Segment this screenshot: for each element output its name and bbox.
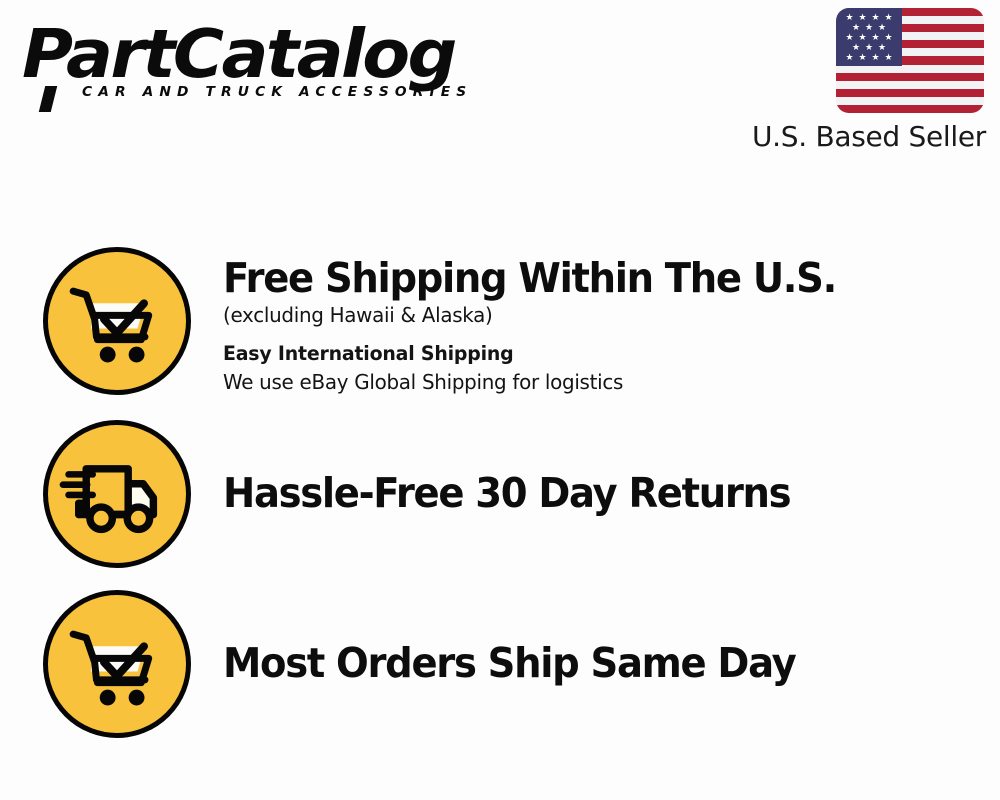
flag-star-row: ★★★★ [836, 13, 902, 22]
feature-title: Hassle-Free 30 Day Returns [223, 470, 937, 516]
shopping-cart-check-icon [43, 247, 191, 395]
feature-sub-heading: Easy International Shipping [223, 340, 960, 368]
brand-tagline: CAR AND TRUCK ACCESSORIES [82, 84, 472, 100]
page-header: PartCatalog CAR AND TRUCK ACCESSORIES [0, 0, 1000, 170]
flag-star-row: ★★★ [836, 23, 902, 32]
feature-text-block: Free Shipping Within The U.S. (excluding… [223, 247, 983, 396]
feature-title: Most Orders Ship Same Day [223, 640, 937, 686]
feature-sub-text: We use eBay Global Shipping for logistic… [223, 368, 960, 396]
shopping-cart-check-icon [43, 590, 191, 738]
us-based-seller-badge: ★★★★ ★★★ ★★★★ ★★★ ★★★★ U.S. Based Seller [836, 8, 986, 113]
us-flag-icon: ★★★★ ★★★ ★★★★ ★★★ ★★★★ [836, 8, 984, 113]
feature-note: (excluding Hawaii & Alaska) [223, 301, 960, 329]
feature-text-block: Most Orders Ship Same Day [223, 590, 983, 686]
flag-star-row: ★★★★ [836, 53, 902, 62]
flag-star-row: ★★★★ [836, 33, 902, 42]
brand-logo-wordmark: PartCatalog [22, 18, 511, 90]
us-based-seller-label: U.S. Based Seller [752, 121, 986, 153]
feature-title: Free Shipping Within The U.S. [223, 255, 937, 301]
delivery-truck-icon [43, 420, 191, 568]
brand-logo[interactable]: PartCatalog CAR AND TRUCK ACCESSORIES [22, 18, 492, 90]
feature-text-block: Hassle-Free 30 Day Returns [223, 420, 983, 516]
flag-star-row: ★★★ [836, 43, 902, 52]
